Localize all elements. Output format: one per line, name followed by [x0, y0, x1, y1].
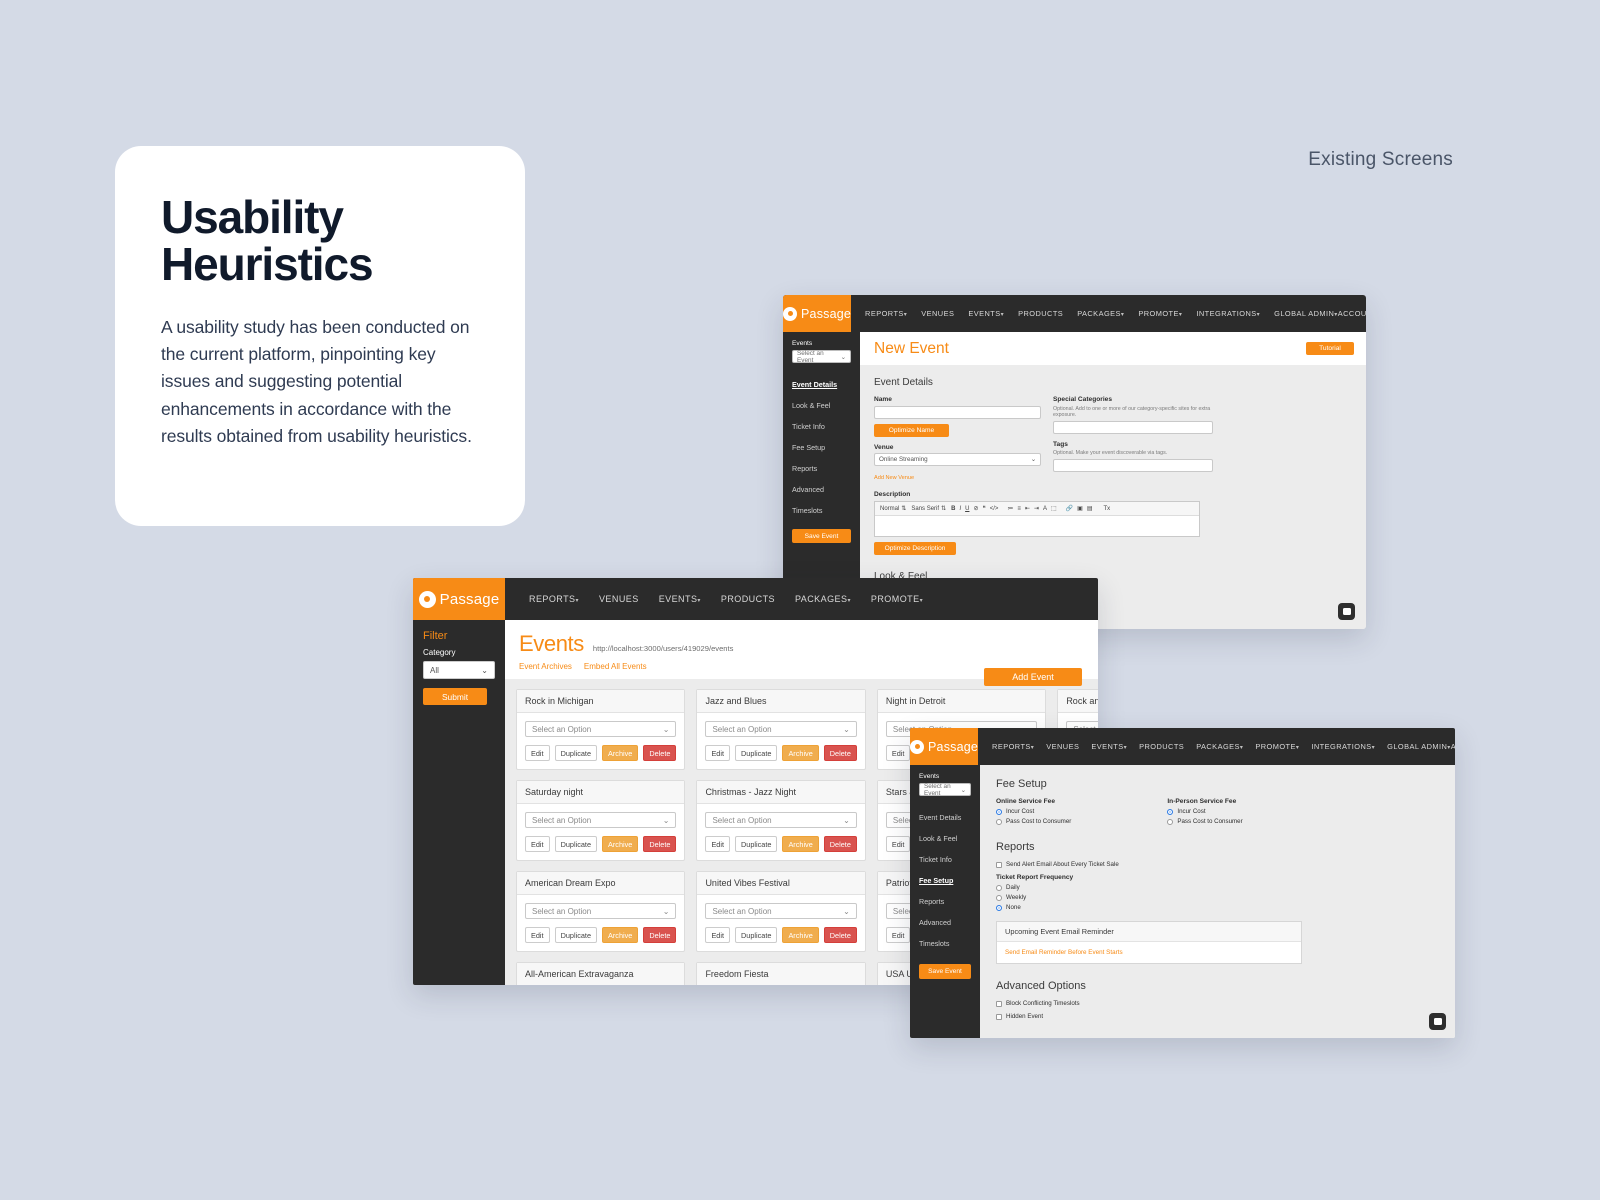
edit-button[interactable]: Edit	[886, 927, 911, 943]
delete-button[interactable]: Delete	[643, 927, 676, 943]
reminder-link[interactable]: Send Email Reminder Before Event Starts	[997, 942, 1301, 963]
clear-format-icon[interactable]: Tx	[1104, 506, 1111, 512]
nav-item-global-admin[interactable]: GLOBAL ADMIN▾	[1387, 742, 1451, 751]
duplicate-button[interactable]: Duplicate	[735, 927, 777, 943]
frequency-daily-label: Daily	[1006, 884, 1020, 891]
chat-widget-icon[interactable]	[1429, 1013, 1446, 1030]
archive-button[interactable]: Archive	[602, 836, 638, 852]
strike-icon[interactable]: ⊘	[973, 505, 978, 512]
intro-body: A usability study has been conducted on …	[161, 314, 479, 450]
tutorial-button[interactable]: Tutorial	[1306, 342, 1354, 355]
event-card-title: Freedom Fiesta	[697, 963, 864, 985]
archive-button[interactable]: Archive	[782, 836, 818, 852]
chevron-down-icon: ▾	[1124, 745, 1127, 751]
tags-label: Tags	[1053, 441, 1213, 448]
edit-button[interactable]: Edit	[525, 836, 550, 852]
bullet-list-icon[interactable]: ≡	[1017, 506, 1021, 512]
nav-item-venues[interactable]: VENUES	[921, 309, 954, 318]
sidebar-item-advanced[interactable]: Advanced	[783, 479, 860, 500]
reminder-panel: Upcoming Event Email Reminder Send Email…	[996, 921, 1302, 964]
format-dropdown[interactable]: Normal⇅	[880, 505, 906, 512]
nav-right: ACCOUNT▾ LOGOUT	[1451, 728, 1455, 765]
event-option-value: Select an Option	[712, 907, 771, 916]
section-heading-advanced: Advanced Options	[996, 980, 1439, 992]
block-conflicting-timeslots-checkbox[interactable]	[996, 1001, 1002, 1007]
event-option-select[interactable]: Select an Option⌄	[525, 903, 676, 919]
chevron-down-icon: ▾	[920, 598, 923, 604]
nav-item-venues[interactable]: VENUES	[599, 594, 639, 604]
delete-button[interactable]: Delete	[643, 745, 676, 761]
chevron-down-icon: ▾	[1257, 312, 1260, 318]
event-card-title: All-American Extravaganza	[517, 963, 684, 985]
chevron-down-icon: ▾	[847, 598, 850, 604]
category-label: Category	[413, 646, 505, 661]
inperson-service-fee-group: In-Person Service Fee Incur Cost Pass Co…	[1167, 798, 1242, 825]
event-select[interactable]: Select an Event ⌄	[792, 350, 851, 363]
chevron-down-icon: ▾	[904, 312, 907, 318]
nav-item-global-admin[interactable]: GLOBAL ADMIN▾	[1274, 309, 1338, 318]
event-sidebar: Events Select an Event ⌄ Event Details L…	[910, 765, 980, 1038]
event-card: United Vibes FestivalSelect an Option⌄Ed…	[696, 871, 865, 952]
checkbox-row[interactable]: Send Alert Email About Every Ticket Sale	[996, 861, 1439, 868]
link-embed-all-events[interactable]: Embed All Events	[584, 662, 647, 671]
nav-right: ACCOUNT▾ LOGOUT	[1338, 295, 1366, 332]
font-dropdown[interactable]: Sans Serif⇅	[911, 505, 946, 512]
passage-logo[interactable]: Passage	[783, 295, 851, 332]
nav-item-reports[interactable]: REPORTS▾	[529, 594, 579, 604]
description-editor[interactable]: Normal⇅ Sans Serif⇅ B I U ⊘ ❝ </>	[874, 501, 1200, 537]
event-select-value: Select an Event	[924, 783, 961, 797]
canvas: Existing Screens Usability Heuristics A …	[0, 0, 1600, 1200]
delete-button[interactable]: Delete	[824, 927, 857, 943]
event-card-title: Jazz and Blues	[697, 690, 864, 713]
chevron-down-icon: ▾	[1447, 745, 1450, 751]
event-option-select[interactable]: Select an Option⌄	[705, 721, 856, 737]
italic-icon[interactable]: I	[959, 506, 961, 512]
delete-button[interactable]: Delete	[824, 745, 857, 761]
inperson-pass-cost-label: Pass Cost to Consumer	[1177, 818, 1242, 825]
sidebar-item-timeslots[interactable]: Timeslots	[910, 933, 980, 954]
sidebar-events-label: Events	[783, 332, 860, 350]
video-icon[interactable]: ▤	[1087, 505, 1093, 512]
event-card-actions: EditDuplicateArchiveDelete	[705, 927, 856, 943]
event-card-title: United Vibes Festival	[697, 872, 864, 895]
bold-icon[interactable]: B	[951, 506, 955, 512]
event-option-select[interactable]: Select an Option⌄	[525, 721, 676, 737]
archive-button[interactable]: Archive	[782, 927, 818, 943]
radio-row[interactable]: Incur Cost	[1167, 808, 1242, 815]
chevron-down-icon: ⌄	[843, 907, 850, 916]
nav-item-events[interactable]: EVENTS▾	[1091, 742, 1127, 751]
event-card-title: American Dream Expo	[517, 872, 684, 895]
location-pin-icon	[419, 591, 436, 608]
event-card-body: Select an Option⌄EditDuplicateArchiveDel…	[517, 713, 684, 769]
radio-row[interactable]: Daily	[996, 884, 1439, 891]
archive-button[interactable]: Archive	[602, 745, 638, 761]
inperson-incur-cost-radio[interactable]	[1167, 809, 1173, 815]
online-pass-cost-radio[interactable]	[996, 819, 1002, 825]
nav-item-packages[interactable]: PACKAGES▾	[1196, 742, 1243, 751]
event-card: Jazz and BluesSelect an Option⌄EditDupli…	[696, 689, 865, 770]
checkbox-row[interactable]: Hidden Event	[996, 1013, 1439, 1020]
delete-button[interactable]: Delete	[824, 836, 857, 852]
event-card-actions: EditDuplicateArchiveDelete	[525, 745, 676, 761]
ordered-list-icon[interactable]: ≔	[1007, 505, 1013, 512]
chevron-down-icon: ▾	[1179, 312, 1182, 318]
event-select[interactable]: Select an Event ⌄	[919, 783, 971, 796]
sidebar-nav: Event Details Look & Feel Ticket Info Fe…	[783, 374, 860, 521]
checkbox-row[interactable]: Block Conflicting Timeslots	[996, 1000, 1439, 1007]
passage-logo[interactable]: Passage	[413, 578, 505, 620]
event-card-actions: EditDuplicateArchiveDelete	[525, 836, 676, 852]
description-label: Description	[874, 491, 1352, 498]
event-card-body: Select an Option⌄EditDuplicateArchiveDel…	[517, 895, 684, 951]
event-card: Freedom FiestaSelect an Option⌄EditDupli…	[696, 962, 865, 985]
sidebar-item-event-details[interactable]: Event Details	[783, 374, 860, 395]
page-title: New Event	[874, 340, 949, 358]
nav-item-packages[interactable]: PACKAGES▾	[795, 594, 851, 604]
save-event-button[interactable]: Save Event	[919, 964, 971, 979]
nav-item-reports[interactable]: REPORTS▾	[992, 742, 1034, 751]
inperson-incur-cost-label: Incur Cost	[1177, 808, 1205, 815]
duplicate-button[interactable]: Duplicate	[555, 836, 597, 852]
archive-button[interactable]: Archive	[782, 745, 818, 761]
nav-item-events[interactable]: EVENTS▾	[968, 309, 1004, 318]
event-option-select[interactable]: Select an Option⌄	[705, 812, 856, 828]
chevron-down-icon: ⌄	[843, 816, 850, 825]
sidebar-item-ticket-info[interactable]: Ticket Info	[783, 416, 860, 437]
event-card-body: Select an Option⌄EditDuplicateArchiveDel…	[517, 804, 684, 860]
inperson-pass-cost-radio[interactable]	[1167, 819, 1173, 825]
nav-item-integrations[interactable]: INTEGRATIONS▾	[1311, 742, 1375, 751]
text-color-icon[interactable]: A	[1043, 506, 1047, 512]
filter-sidebar: Filter Category All ⌄ Submit	[413, 620, 505, 985]
name-label: Name	[874, 396, 1041, 403]
window-fee-setup: Passage REPORTS▾ VENUES EVENTS▾ PRODUCTS…	[910, 728, 1455, 1038]
section-heading-event-details: Event Details	[874, 377, 1352, 388]
section-heading-reports: Reports	[996, 841, 1439, 853]
page-title: Events	[519, 631, 584, 657]
venue-select[interactable]: Online Streaming ⌄	[874, 453, 1041, 466]
event-option-value: Select an Option	[532, 725, 591, 734]
online-service-fee-label: Online Service Fee	[996, 798, 1071, 805]
editor-toolbar: Normal⇅ Sans Serif⇅ B I U ⊘ ❝ </>	[875, 502, 1199, 516]
highlight-icon[interactable]: ⬚	[1051, 505, 1057, 512]
sidebar-item-fee-setup[interactable]: Fee Setup	[910, 870, 980, 891]
ticket-report-frequency-label: Ticket Report Frequency	[996, 874, 1439, 881]
chevron-down-icon: ▾	[576, 598, 579, 604]
edit-button[interactable]: Edit	[525, 745, 550, 761]
online-incur-cost-label: Incur Cost	[1006, 808, 1034, 815]
event-card: American Dream ExpoSelect an Option⌄Edit…	[516, 871, 685, 952]
section-label: Existing Screens	[1308, 149, 1453, 171]
page-title: Usability Heuristics	[161, 194, 479, 288]
event-card-title: Night in Detroit	[878, 690, 1045, 713]
radio-row[interactable]: Pass Cost to Consumer	[1167, 818, 1242, 825]
sidebar-item-advanced[interactable]: Advanced	[910, 912, 980, 933]
underline-icon[interactable]: U	[965, 506, 969, 512]
alert-email-label: Send Alert Email About Every Ticket Sale	[1006, 861, 1119, 868]
location-pin-icon	[783, 307, 797, 321]
duplicate-button[interactable]: Duplicate	[555, 927, 597, 943]
sidebar-item-look-feel[interactable]: Look & Feel	[910, 828, 980, 849]
event-card-title: Rock and Roll Night	[1058, 690, 1098, 713]
edit-button[interactable]: Edit	[705, 836, 730, 852]
chevron-down-icon: ⌄	[841, 353, 846, 361]
chevron-down-icon: ⌄	[481, 666, 488, 675]
chevron-down-icon: ⇅	[941, 505, 946, 512]
sidebar-item-event-details[interactable]: Event Details	[910, 807, 980, 828]
event-option-value: Select an Option	[712, 725, 771, 734]
nav-item-promote[interactable]: PROMOTE▾	[871, 594, 923, 604]
chevron-down-icon: ⌄	[843, 725, 850, 734]
event-option-select[interactable]: Select an Option⌄	[525, 812, 676, 828]
frequency-weekly-radio[interactable]	[996, 895, 1002, 901]
block-conflicting-timeslots-label: Block Conflicting Timeslots	[1006, 1000, 1080, 1007]
special-categories-hint: Optional. Add to one or more of our cate…	[1053, 406, 1213, 418]
radio-row[interactable]: Weekly	[996, 894, 1439, 901]
fee-setup-main: Fee Setup Online Service Fee Incur Cost …	[980, 765, 1455, 1038]
nav-item-reports[interactable]: REPORTS▾	[865, 309, 907, 318]
event-card-body: Select an Option⌄EditDuplicateArchiveDel…	[697, 895, 864, 951]
chevron-down-icon: ⌄	[663, 907, 670, 916]
event-card: All-American ExtravaganzaSelect an Optio…	[516, 962, 685, 985]
quote-icon[interactable]: ❝	[982, 505, 985, 512]
chevron-down-icon: ▾	[697, 598, 700, 604]
fee-setup-content: Fee Setup Online Service Fee Incur Cost …	[980, 765, 1455, 1038]
venue-select-value: Online Streaming	[879, 456, 928, 463]
top-nav-bar: Passage REPORTS▾ VENUES EVENTS▾ PRODUCTS…	[783, 295, 1366, 332]
filter-title: Filter	[413, 620, 505, 646]
radio-row[interactable]: Pass Cost to Consumer	[996, 818, 1071, 825]
tags-input[interactable]	[1053, 459, 1213, 472]
nav-item-promote[interactable]: PROMOTE▾	[1255, 742, 1299, 751]
nav-items: REPORTS▾ VENUES EVENTS▾ PRODUCTS PACKAGE…	[978, 728, 1451, 765]
duplicate-button[interactable]: Duplicate	[735, 836, 777, 852]
nav-items: REPORTS▾ VENUES EVENTS▾ PRODUCTS PACKAGE…	[505, 578, 1098, 620]
optimize-description-button[interactable]: Optimize Description	[874, 542, 956, 555]
frequency-none-radio[interactable]	[996, 905, 1002, 911]
event-card-actions: EditDuplicateArchiveDelete	[705, 836, 856, 852]
sidebar-item-timeslots[interactable]: Timeslots	[783, 500, 860, 521]
event-option-select[interactable]: Select an Option⌄	[705, 903, 856, 919]
event-option-value: Select an Option	[532, 907, 591, 916]
nav-items: REPORTS▾ VENUES EVENTS▾ PRODUCTS PACKAGE…	[851, 295, 1338, 332]
edit-button[interactable]: Edit	[705, 745, 730, 761]
submit-button[interactable]: Submit	[423, 688, 487, 705]
chevron-down-icon: ▾	[1240, 745, 1243, 751]
edit-button[interactable]: Edit	[525, 927, 550, 943]
outdent-icon[interactable]: ⇤	[1025, 505, 1030, 512]
sidebar-events-label: Events	[910, 765, 980, 783]
chevron-down-icon: ▾	[1001, 312, 1004, 318]
category-select[interactable]: All ⌄	[423, 661, 495, 679]
chevron-down-icon: ▾	[1121, 312, 1124, 318]
duplicate-button[interactable]: Duplicate	[555, 745, 597, 761]
indent-icon[interactable]: ⇥	[1034, 505, 1039, 512]
alert-email-checkbox[interactable]	[996, 862, 1002, 868]
nav-item-integrations[interactable]: INTEGRATIONS▾	[1196, 309, 1260, 318]
event-card-title: Saturday night	[517, 781, 684, 804]
tags-hint: Optional. Make your event discoverable v…	[1053, 450, 1213, 456]
nav-item-promote[interactable]: PROMOTE▾	[1138, 309, 1182, 318]
intro-title-line1: Usability	[161, 194, 479, 241]
page-url: http://localhost:3000/users/419029/event…	[593, 644, 734, 653]
sidebar-item-reports[interactable]: Reports	[910, 891, 980, 912]
radio-row[interactable]: None	[996, 904, 1439, 911]
delete-button[interactable]: Delete	[643, 836, 676, 852]
chevron-down-icon: ▾	[1031, 745, 1034, 751]
nav-item-products[interactable]: PRODUCTS	[721, 594, 775, 604]
event-card: Rock in MichiganSelect an Option⌄EditDup…	[516, 689, 685, 770]
online-incur-cost-radio[interactable]	[996, 809, 1002, 815]
duplicate-button[interactable]: Duplicate	[735, 745, 777, 761]
location-pin-icon	[910, 740, 924, 754]
intro-card: Usability Heuristics A usability study h…	[115, 146, 525, 526]
radio-row[interactable]: Incur Cost	[996, 808, 1071, 815]
event-card-actions: EditDuplicateArchiveDelete	[525, 927, 676, 943]
code-icon[interactable]: </>	[990, 506, 999, 512]
add-event-button[interactable]: Add Event	[984, 668, 1082, 686]
edit-button[interactable]: Edit	[705, 927, 730, 943]
venue-label: Venue	[874, 444, 1041, 451]
chevron-down-icon: ⌄	[1031, 456, 1036, 463]
chevron-down-icon: ▾	[1296, 745, 1299, 751]
sidebar-nav: Event Details Look & Feel Ticket Info Fe…	[910, 807, 980, 954]
passage-logo[interactable]: Passage	[910, 728, 978, 765]
archive-button[interactable]: Archive	[602, 927, 638, 943]
image-icon[interactable]: ▣	[1077, 505, 1083, 512]
section-heading-fee-setup: Fee Setup	[996, 778, 1439, 790]
event-select-value: Select an Event	[797, 350, 841, 364]
brand-name: Passage	[928, 740, 978, 754]
chevron-down-icon: ⇅	[901, 505, 906, 512]
add-new-venue-link[interactable]: Add New Venue	[874, 475, 914, 481]
nav-item-events[interactable]: EVENTS▾	[659, 594, 701, 604]
chevron-down-icon: ▾	[1334, 312, 1337, 318]
special-categories-input[interactable]	[1053, 421, 1213, 434]
nav-item-account[interactable]: ACCOUNT▾	[1451, 742, 1455, 751]
category-select-value: All	[430, 666, 439, 675]
chat-widget-icon[interactable]	[1338, 603, 1355, 620]
chevron-down-icon: ▾	[1372, 745, 1375, 751]
sidebar-item-fee-setup[interactable]: Fee Setup	[783, 437, 860, 458]
event-card-body: Select an Option⌄EditDuplicateArchiveDel…	[697, 804, 864, 860]
sidebar-item-look-feel[interactable]: Look & Feel	[783, 395, 860, 416]
chevron-down-icon: ⌄	[663, 816, 670, 825]
reminder-panel-title: Upcoming Event Email Reminder	[997, 922, 1301, 942]
online-pass-cost-label: Pass Cost to Consumer	[1006, 818, 1071, 825]
frequency-none-label: None	[1006, 904, 1021, 911]
event-card-body: Select an Option⌄EditDuplicateArchiveDel…	[697, 713, 864, 769]
chevron-down-icon: ⌄	[663, 725, 670, 734]
nav-item-account[interactable]: ACCOUNT▾	[1338, 309, 1366, 318]
intro-title-line2: Heuristics	[161, 241, 479, 288]
inperson-service-fee-label: In-Person Service Fee	[1167, 798, 1242, 805]
save-event-button[interactable]: Save Event	[792, 529, 851, 543]
hidden-event-checkbox[interactable]	[996, 1014, 1002, 1020]
event-card-title: Rock in Michigan	[517, 690, 684, 713]
event-card-title: Christmas - Jazz Night	[697, 781, 864, 804]
nav-item-products[interactable]: PRODUCTS	[1018, 309, 1063, 318]
brand-name: Passage	[440, 591, 500, 608]
nav-item-products[interactable]: PRODUCTS	[1139, 742, 1184, 751]
event-option-value: Select an Option	[532, 816, 591, 825]
nav-item-packages[interactable]: PACKAGES▾	[1077, 309, 1124, 318]
name-input[interactable]	[874, 406, 1041, 419]
event-card: Christmas - Jazz NightSelect an Option⌄E…	[696, 780, 865, 861]
nav-item-venues[interactable]: VENUES	[1046, 742, 1079, 751]
online-service-fee-group: Online Service Fee Incur Cost Pass Cost …	[996, 798, 1071, 825]
event-option-value: Select an Option	[712, 816, 771, 825]
edit-button[interactable]: Edit	[886, 745, 911, 761]
special-categories-label: Special Categories	[1053, 396, 1213, 403]
chevron-down-icon: ⌄	[961, 786, 966, 794]
event-card: Saturday nightSelect an Option⌄EditDupli…	[516, 780, 685, 861]
edit-button[interactable]: Edit	[886, 836, 911, 852]
hidden-event-label: Hidden Event	[1006, 1013, 1043, 1020]
page-header: New Event Tutorial	[860, 332, 1366, 365]
sidebar-item-reports[interactable]: Reports	[783, 458, 860, 479]
top-nav-bar: Passage REPORTS▾ VENUES EVENTS▾ PRODUCTS…	[413, 578, 1098, 620]
top-nav-bar: Passage REPORTS▾ VENUES EVENTS▾ PRODUCTS…	[910, 728, 1455, 765]
description-textarea[interactable]	[875, 516, 1199, 536]
sidebar-item-ticket-info[interactable]: Ticket Info	[910, 849, 980, 870]
optimize-name-button[interactable]: Optimize Name	[874, 424, 949, 437]
link-icon[interactable]: 🔗	[1066, 505, 1073, 512]
frequency-daily-radio[interactable]	[996, 885, 1002, 891]
frequency-weekly-label: Weekly	[1006, 894, 1026, 901]
brand-name: Passage	[801, 307, 851, 321]
event-card-actions: EditDuplicateArchiveDelete	[705, 745, 856, 761]
link-event-archives[interactable]: Event Archives	[519, 662, 572, 671]
